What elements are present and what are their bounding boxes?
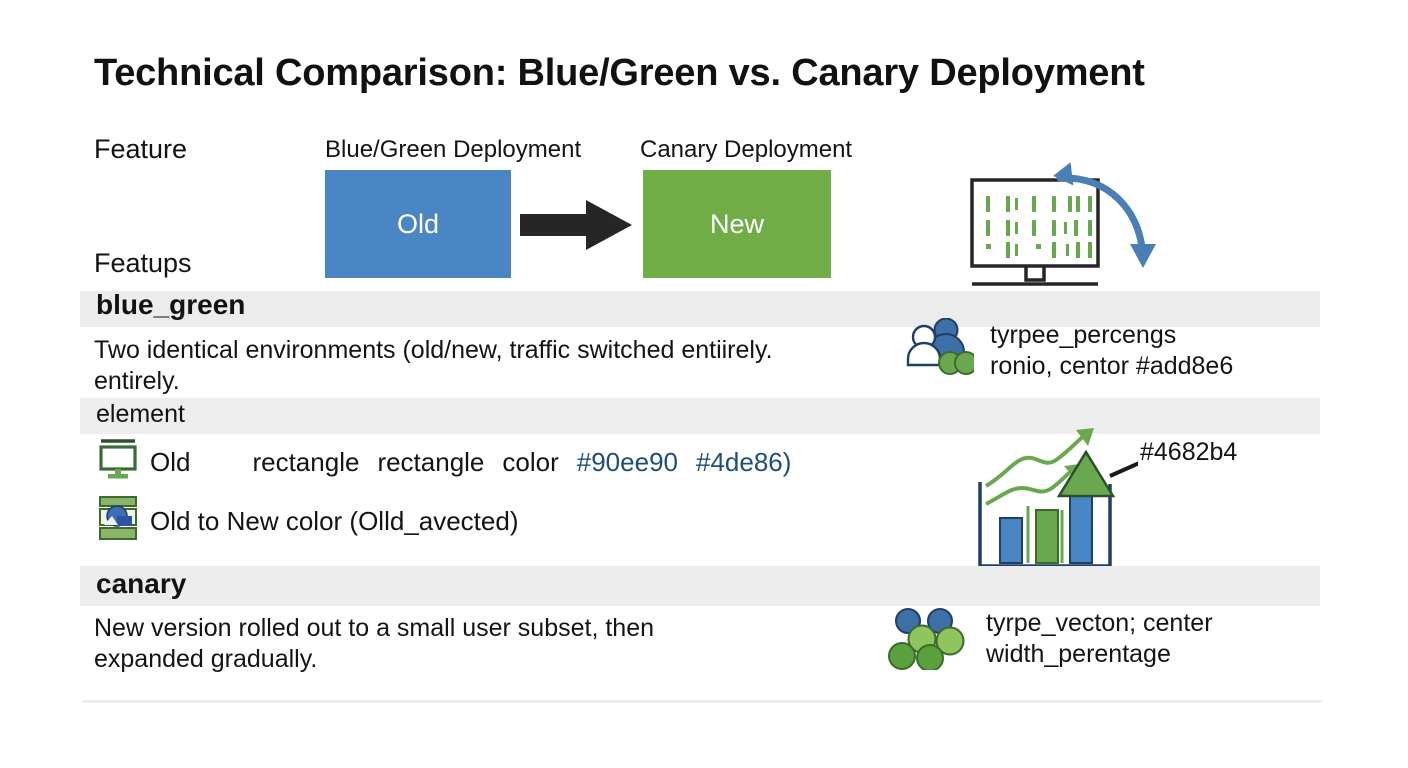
element-row-1-hex2: #4de86): [696, 447, 791, 478]
chart-hex-label: #4682b4: [1140, 438, 1237, 467]
element-row-1-word3: color: [502, 447, 558, 478]
section-band-canary: [80, 566, 1320, 606]
monitor-code-icon: [960, 158, 1175, 308]
section-body-canary: New version rolled out to a small user s…: [94, 613, 794, 674]
column-header-blue-green: Blue/Green Deployment: [325, 136, 581, 164]
bottom-divider: [82, 700, 1322, 703]
element-row-1-name: Old: [150, 447, 190, 478]
section-body-blue-green: Two identical environments (old/new, tra…: [94, 335, 854, 396]
element-row-2-text: Old to New color (Olld_avected): [150, 506, 518, 537]
element-row-1-word2: rectangle: [377, 447, 484, 478]
annotation-people: tyrpee_percengs ronio, centor #add8e6: [906, 318, 1233, 381]
people-group-icon: [906, 318, 974, 381]
element-row-1-word1: rectangle: [252, 447, 359, 478]
page-title: Technical Comparison: Blue/Green vs. Can…: [94, 52, 1145, 95]
old-block-label: Old: [397, 209, 439, 240]
element-row-2: Old to New color (Olld_avected): [98, 495, 518, 548]
section-label-canary: canary: [96, 568, 186, 600]
slide-canvas: Technical Comparison: Blue/Green vs. Can…: [0, 0, 1408, 768]
new-block-label: New: [710, 209, 764, 240]
monitor-icon: [98, 438, 138, 487]
element-row-1: Old rectangle rectangle color #90ee90 #4…: [98, 438, 791, 487]
column-header-canary: Canary Deployment: [640, 136, 852, 164]
transition-arrow: [520, 200, 638, 250]
annotation-circles-text: tyrpe_vecton; center width_perentage: [986, 608, 1213, 669]
color-swap-icon: [98, 495, 138, 548]
annotation-circles: tyrpe_vecton; center width_perentage: [886, 608, 1213, 675]
element-row-1-hex1: #90ee90: [577, 447, 678, 478]
user-dots-icon: [886, 608, 968, 675]
section-label-blue-green: blue_green: [96, 289, 245, 321]
column-header-featups: Featups: [94, 248, 192, 279]
annotation-people-text: tyrpee_percengs ronio, centor #add8e6: [990, 320, 1233, 381]
new-environment-block: New: [643, 170, 831, 278]
section-label-element: element: [96, 400, 185, 429]
old-environment-block: Old: [325, 170, 511, 278]
column-header-feature: Feature: [94, 134, 187, 165]
